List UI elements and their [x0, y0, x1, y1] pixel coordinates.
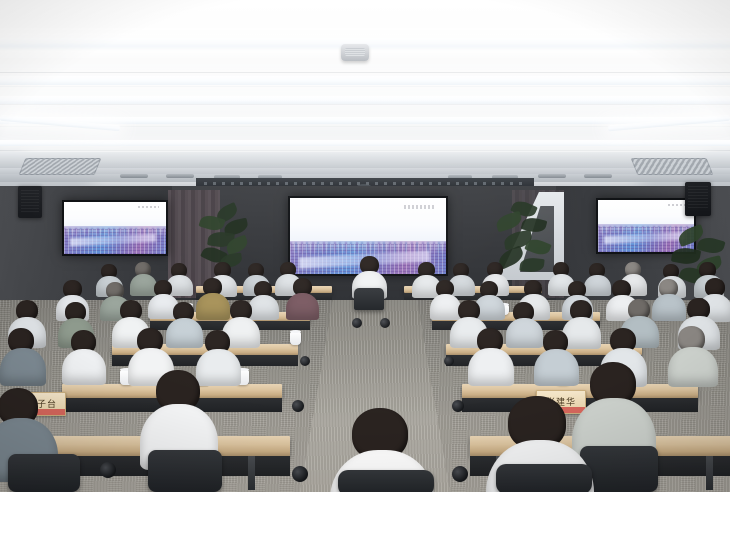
- ceiling-slot: [584, 174, 612, 178]
- conference-chair: [496, 464, 592, 492]
- smoke-detector-icon: [341, 44, 369, 61]
- left-led-content: [64, 202, 166, 254]
- ceiling-seam: [0, 150, 730, 151]
- ceiling-seam: [0, 104, 730, 105]
- chair-wheel: [292, 400, 304, 412]
- chair-wheel: [444, 356, 454, 366]
- conference-chair: [338, 470, 434, 492]
- ceiling-light-strip: [0, 117, 730, 124]
- ceiling-seam: [0, 72, 730, 73]
- screenshot-root: 市子台 张建华: [0, 0, 730, 548]
- chair-wheel: [292, 466, 308, 482]
- chair-wheel: [100, 462, 116, 478]
- ceiling-slot: [166, 174, 194, 178]
- wall-speaker: [18, 186, 42, 218]
- white-margin: [0, 492, 730, 548]
- potted-plant: [494, 202, 556, 274]
- ceiling-light-strip: [0, 76, 730, 85]
- conference-chair: [148, 450, 222, 492]
- chair-wheel: [452, 400, 464, 412]
- desk-leg: [706, 456, 713, 490]
- chair-wheel: [300, 356, 310, 366]
- air-vent: [631, 158, 714, 175]
- wall-speaker: [685, 182, 711, 216]
- conference-chair: [354, 288, 384, 310]
- chair-wheel: [380, 318, 390, 328]
- desk-leg: [248, 456, 255, 490]
- air-vent: [19, 158, 102, 175]
- ceiling-seam: [0, 86, 730, 87]
- display-logo: [404, 205, 435, 209]
- ceiling-slot: [538, 174, 566, 178]
- ceiling-slot: [120, 174, 148, 178]
- chair-wheel: [452, 466, 468, 482]
- left-led-display: [62, 200, 168, 256]
- conference-room-photo: 市子台 张建华: [0, 0, 730, 492]
- ceiling-light-strip: [0, 96, 730, 104]
- display-logo: [138, 206, 158, 209]
- potted-plant: [196, 206, 254, 270]
- ceiling-light-strip: [0, 140, 730, 146]
- conference-chair: [8, 454, 80, 492]
- teacup: [290, 332, 301, 345]
- chair-wheel: [352, 318, 362, 328]
